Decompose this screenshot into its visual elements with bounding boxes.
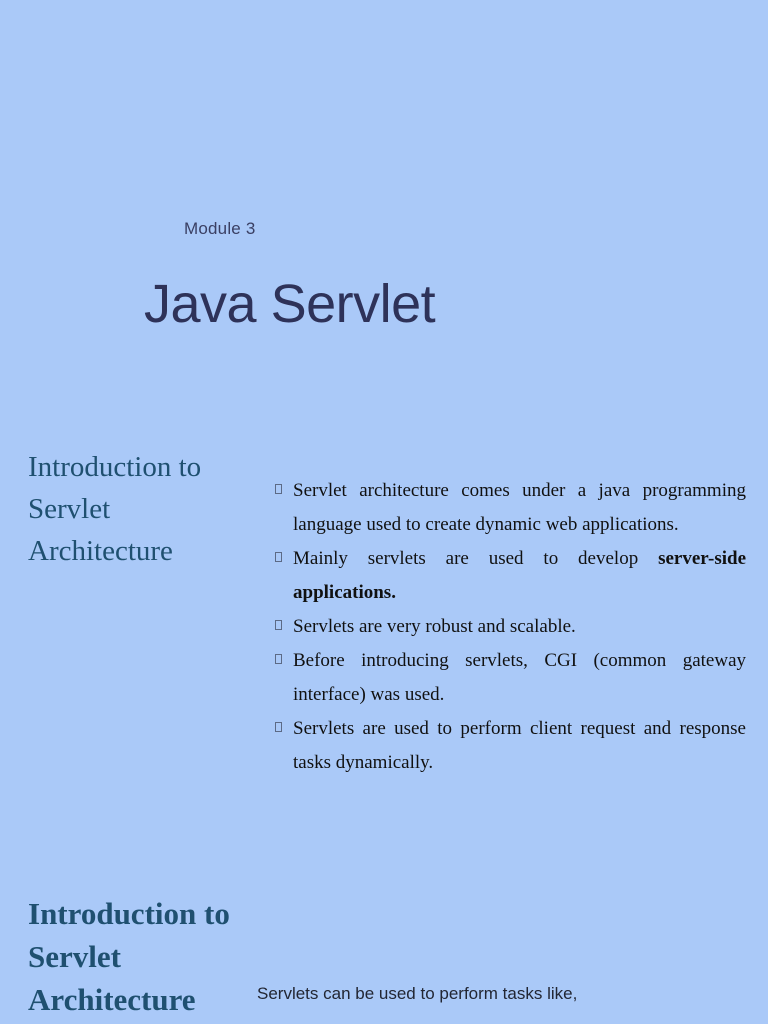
list-item-text: Servlets are used to perform client requ…	[293, 712, 746, 780]
section-two-heading: Introduction to Servlet Architecture	[28, 892, 258, 1021]
list-item-text: Servlet architecture comes under a java …	[293, 474, 746, 542]
module-label: Module 3	[184, 218, 768, 240]
list-item-text-plain: Before introducing servlets, CGI (common…	[293, 650, 746, 705]
square-bullet-icon	[275, 722, 282, 732]
list-item: Servlets are very robust and scalable.	[272, 610, 746, 644]
square-bullet-icon	[275, 654, 282, 664]
title-block: Module 3 Java Servlet	[0, 218, 768, 334]
slide-canvas: Module 3 Java Servlet Introduction to Se…	[0, 0, 768, 1024]
list-item-text-plain: Servlets are used to perform client requ…	[293, 718, 746, 773]
list-item-text-plain: Servlets are very robust and scalable.	[293, 616, 576, 637]
list-item-text-plain: Mainly servlets are used to develop	[293, 548, 658, 569]
list-item-text-plain: Servlet architecture comes under a java …	[293, 480, 746, 535]
list-item: Mainly servlets are used to develop serv…	[272, 542, 746, 610]
square-bullet-icon	[275, 484, 282, 494]
list-item: Servlets are used to perform client requ…	[272, 712, 746, 780]
servlet-bullet-list: Servlet architecture comes under a java …	[272, 474, 746, 780]
page-title: Java Servlet	[144, 274, 768, 334]
square-bullet-icon	[275, 620, 282, 630]
square-bullet-icon	[275, 552, 282, 562]
section-two-lead-text: Servlets can be used to perform tasks li…	[257, 982, 737, 1006]
list-item-text: Mainly servlets are used to develop serv…	[293, 542, 746, 610]
list-item: Before introducing servlets, CGI (common…	[272, 644, 746, 712]
list-item: Servlet architecture comes under a java …	[272, 474, 746, 542]
section-one-heading: Introduction to Servlet Architecture	[28, 446, 253, 572]
list-item-text: Servlets are very robust and scalable.	[293, 610, 746, 644]
list-item-text: Before introducing servlets, CGI (common…	[293, 644, 746, 712]
